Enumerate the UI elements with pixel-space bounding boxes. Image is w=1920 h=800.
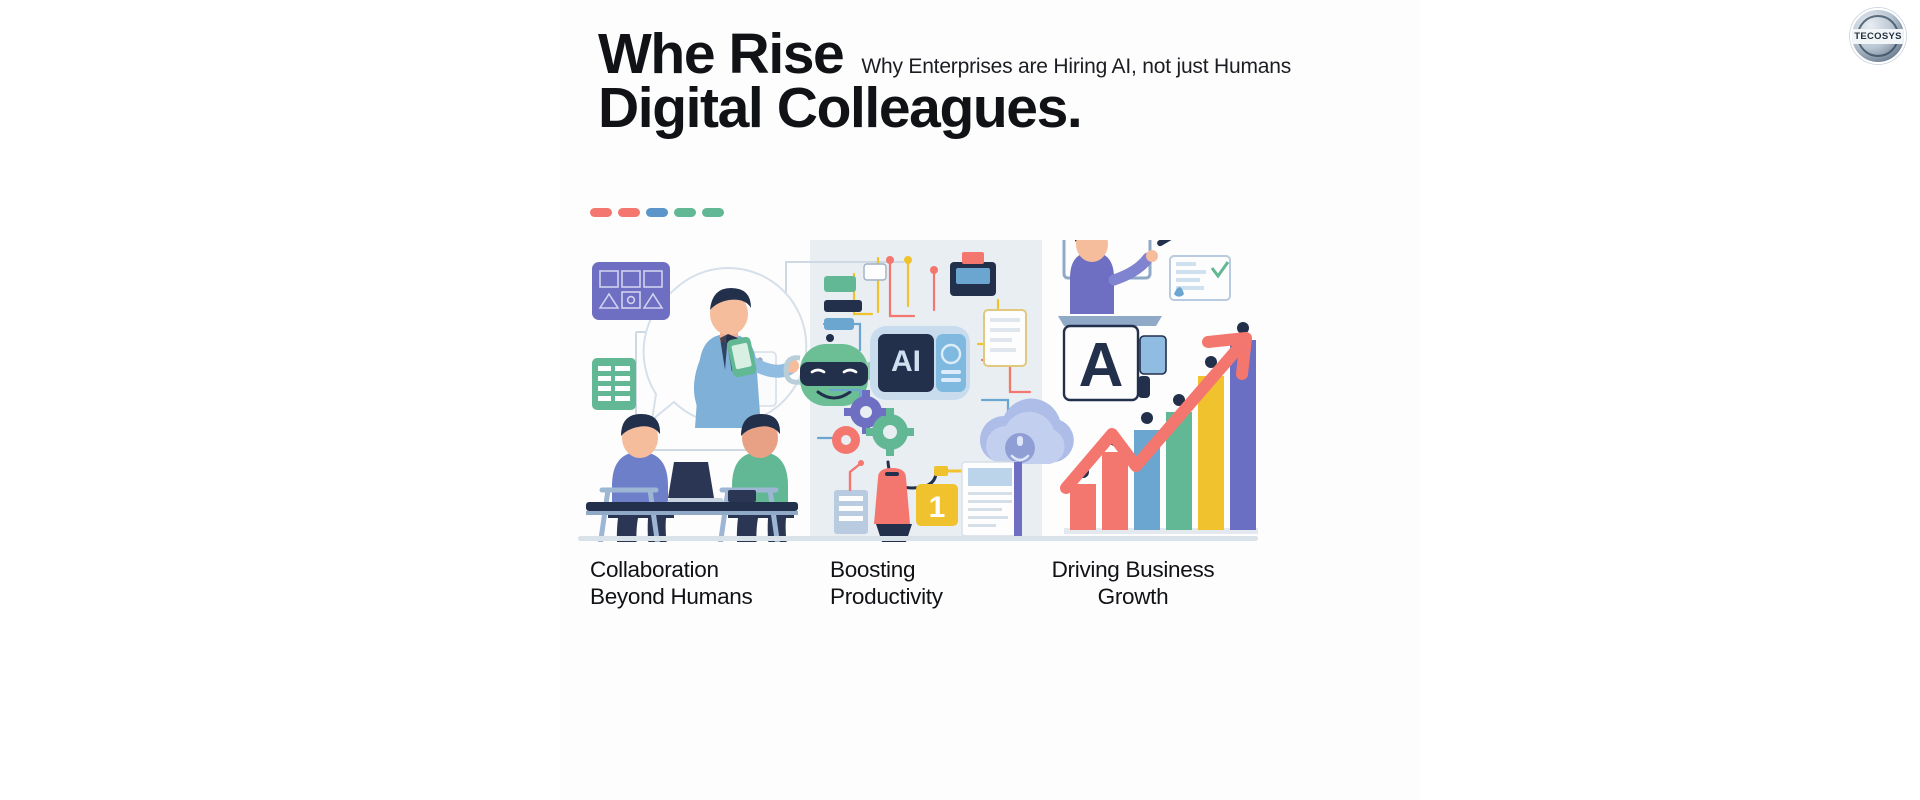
illustration-baseline [578, 536, 1258, 541]
slide-canvas: Whe Rise Why Enterprises are Hiring AI, … [560, 0, 1420, 800]
ai-chip-card: AI [870, 326, 970, 400]
laptop-1 [664, 462, 728, 506]
title-row: Whe Rise Why Enterprises are Hiring AI, … [598, 26, 1291, 83]
caption-row: Collaboration Beyond Humans Boosting Pro… [560, 556, 1420, 636]
logo-text: TECOSYS [1851, 29, 1905, 44]
circuit-tile-green [824, 276, 856, 292]
dash-5 [702, 208, 724, 217]
document-card [984, 310, 1026, 366]
tecosys-logo-badge[interactable]: TECOSYS [1850, 8, 1906, 64]
ai-chip-label: AI [891, 345, 921, 378]
badge-number: 1 [929, 491, 946, 524]
news-card [962, 462, 1022, 536]
page-title-line-2: Digital Colleagues. [598, 80, 1081, 137]
dash-2 [618, 208, 640, 217]
letter-card-label: A [1079, 331, 1124, 400]
laptop-2 [728, 490, 756, 502]
caption-productivity: Boosting Productivity [830, 556, 943, 610]
page-title-line-1: Whe Rise [598, 26, 843, 83]
hero-illustration: AI [578, 240, 1258, 542]
accent-dash-row [590, 208, 724, 217]
slide-screen: Whe Rise Why Enterprises are Hiring AI, … [0, 0, 1920, 800]
bar-2 [1102, 452, 1128, 530]
bar-1 [1070, 484, 1096, 530]
dash-1 [590, 208, 612, 217]
dash-3 [646, 208, 668, 217]
desk-and-seated-team [586, 414, 800, 542]
icon-card-purple [592, 262, 670, 320]
caption-collaboration: Collaboration Beyond Humans [590, 556, 752, 610]
caption-growth: Driving Business Growth [1028, 556, 1238, 610]
icon-card-green [592, 358, 636, 410]
number-badge: 1 [916, 484, 958, 526]
dash-4 [674, 208, 696, 217]
